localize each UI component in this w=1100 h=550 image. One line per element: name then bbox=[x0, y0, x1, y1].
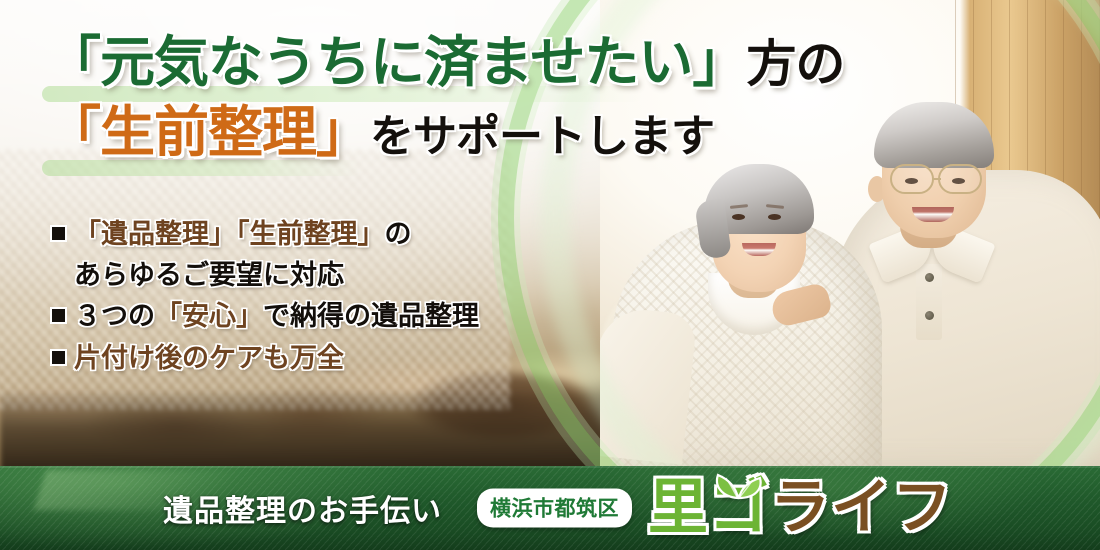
bullet-item-1: 「遺品整理」「生前整理」の bbox=[52, 216, 479, 252]
headline-line2-tail: をサポートします bbox=[370, 111, 714, 162]
feature-bullet-list: 「遺品整理」「生前整理」の あらゆるご要望に対応 ３つの「安心」で納得の遺品整理… bbox=[52, 216, 479, 381]
square-bullet-icon bbox=[52, 351, 65, 364]
bullet-item-3: 片付け後のケアも万全 bbox=[52, 340, 479, 376]
headline-line-1: 「元気なうちに済ませたい」方の bbox=[46, 34, 846, 90]
photo-woman-arm bbox=[600, 305, 698, 464]
sprout-leaf-icon bbox=[708, 464, 768, 502]
headline-line2-quoted: 「生前整理」 bbox=[46, 99, 370, 164]
bullet-item-2: ３つの「安心」で納得の遺品整理 bbox=[52, 298, 479, 334]
hero-banner: 「元気なうちに済ませたい」方の 「生前整理」をサポートします 「遺品整理」「生前… bbox=[0, 0, 1100, 550]
photo-woman-eye bbox=[768, 214, 781, 220]
service-area-badge: 横浜市都筑区 bbox=[477, 489, 632, 528]
photo-man-glasses bbox=[890, 164, 934, 194]
photo-woman-eye bbox=[732, 214, 745, 220]
headline-line1-tail: 方の bbox=[746, 34, 844, 93]
photo-man-glasses-bridge bbox=[932, 178, 941, 181]
headline-line1-quoted: 「元気なうちに済ませたい」 bbox=[46, 29, 746, 94]
bullet-2-prefix: ３つの bbox=[74, 301, 155, 331]
logo-brown-text: ライフ bbox=[770, 478, 953, 538]
photo-man-button bbox=[925, 311, 934, 320]
bullet-1-highlight: 「遺品整理」「生前整理」 bbox=[74, 219, 385, 249]
footer-tagline: 遺品整理のお手伝い bbox=[163, 486, 442, 530]
site-logo[interactable]: 里ゴライフ bbox=[648, 478, 953, 538]
headline-line-2: 「生前整理」をサポートします bbox=[46, 104, 846, 160]
bullet-2-suffix: で納得の遺品整理 bbox=[263, 301, 479, 331]
footer-green-bar: 遺品整理のお手伝い 横浜市都筑区 里ゴライフ bbox=[0, 466, 1100, 550]
photo-man-glasses bbox=[938, 164, 982, 194]
bullet-1-rest: の bbox=[385, 219, 412, 249]
bullet-3-text: 片付け後のケアも万全 bbox=[74, 340, 344, 376]
headline: 「元気なうちに済ませたい」方の 「生前整理」をサポートします bbox=[46, 34, 846, 174]
bullet-2-highlight: 「安心」 bbox=[155, 301, 263, 331]
photo-man-button bbox=[925, 273, 934, 282]
square-bullet-icon bbox=[52, 309, 65, 322]
bullet-1-line2: あらゆるご要望に対応 bbox=[74, 257, 479, 293]
square-bullet-icon bbox=[52, 227, 65, 240]
